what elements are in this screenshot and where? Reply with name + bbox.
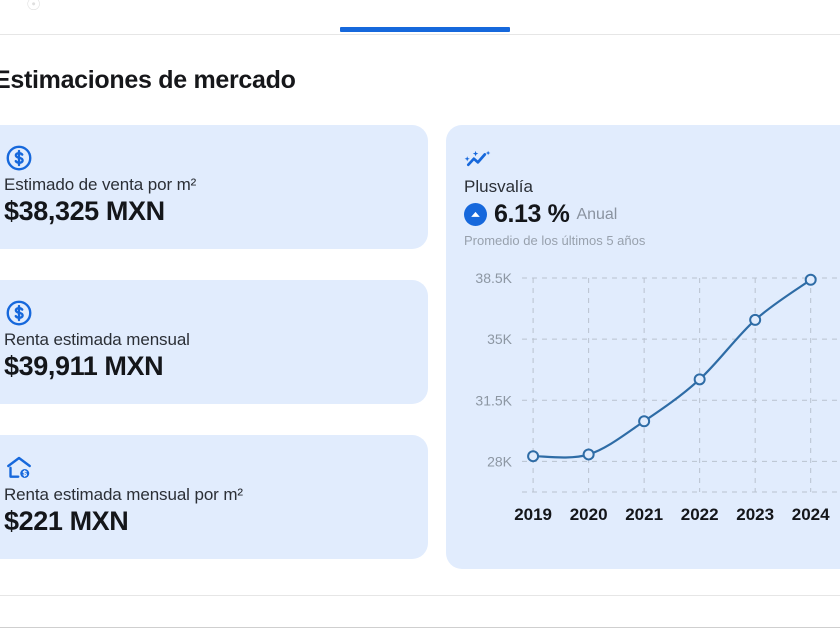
chart-data-point[interactable] (584, 449, 594, 459)
y-axis-tick-label: 35K (487, 331, 513, 347)
page-title: Estimaciones de mercado (0, 66, 296, 95)
stat-card-monthly-rent-per-m2[interactable]: Renta estimada mensual por m² $221 MXN (0, 435, 428, 559)
stat-card-label: Renta estimada mensual (4, 330, 406, 350)
x-axis-tick-label: 2024 (792, 505, 830, 524)
dollar-circle-icon (4, 298, 406, 328)
panel-title: Plusvalía (464, 177, 840, 197)
stat-card-value: $221 MXN (4, 506, 406, 537)
x-axis-tick-label: 2019 (514, 505, 552, 524)
stat-card-monthly-rent[interactable]: Renta estimada mensual $39,911 MXN (0, 280, 428, 404)
appreciation-rate-unit: Anual (576, 206, 617, 224)
stat-card-value: $38,325 MXN (4, 196, 406, 227)
top-tab-strip: ☉ (0, 0, 840, 35)
chart-line-series (533, 280, 811, 458)
x-axis-tick-label: 2021 (625, 505, 663, 524)
house-dollar-icon (4, 453, 406, 483)
stat-card-label: Estimado de venta por m² (4, 175, 406, 195)
stat-card-sale-price-per-m2[interactable]: Estimado de venta por m² $38,325 MXN (0, 125, 428, 249)
chart-data-point[interactable] (695, 374, 705, 384)
dollar-circle-icon (4, 143, 406, 173)
market-estimates-content: Estimado de venta por m² $38,325 MXN Ren… (0, 125, 840, 575)
appreciation-rate-row: 6.13 % Anual (464, 200, 840, 229)
window-bottom-divider (0, 627, 840, 628)
chart-data-point[interactable] (806, 275, 816, 285)
chart-canvas: 38.5K35K31.5K28K201920202021202220232024 (460, 258, 840, 558)
trend-sparkle-icon (464, 143, 840, 173)
appreciation-panel: Plusvalía 6.13 % Anual Promedio de los ú… (446, 125, 840, 569)
active-tab-indicator[interactable] (340, 27, 510, 32)
appreciation-line-chart[interactable]: 38.5K35K31.5K28K201920202021202220232024 (460, 258, 840, 558)
content-divider (0, 595, 840, 596)
cutoff-glyph-icon: ☉ (26, 0, 52, 16)
y-axis-tick-label: 28K (487, 453, 513, 469)
x-axis-tick-label: 2023 (736, 505, 774, 524)
chart-data-point[interactable] (639, 416, 649, 426)
appreciation-subtitle: Promedio de los últimos 5 años (464, 233, 840, 248)
y-axis-tick-label: 38.5K (475, 270, 512, 286)
stat-card-list: Estimado de venta por m² $38,325 MXN Ren… (0, 125, 428, 590)
chart-data-point[interactable] (528, 451, 538, 461)
stat-card-value: $39,911 MXN (4, 351, 406, 382)
stat-card-label: Renta estimada mensual por m² (4, 485, 406, 505)
x-axis-tick-label: 2022 (681, 505, 719, 524)
appreciation-rate-value: 6.13 % (494, 200, 569, 229)
x-axis-tick-label: 2020 (570, 505, 608, 524)
arrow-up-circle-icon (464, 203, 487, 226)
chart-data-point[interactable] (750, 315, 760, 325)
y-axis-tick-label: 31.5K (475, 392, 512, 408)
